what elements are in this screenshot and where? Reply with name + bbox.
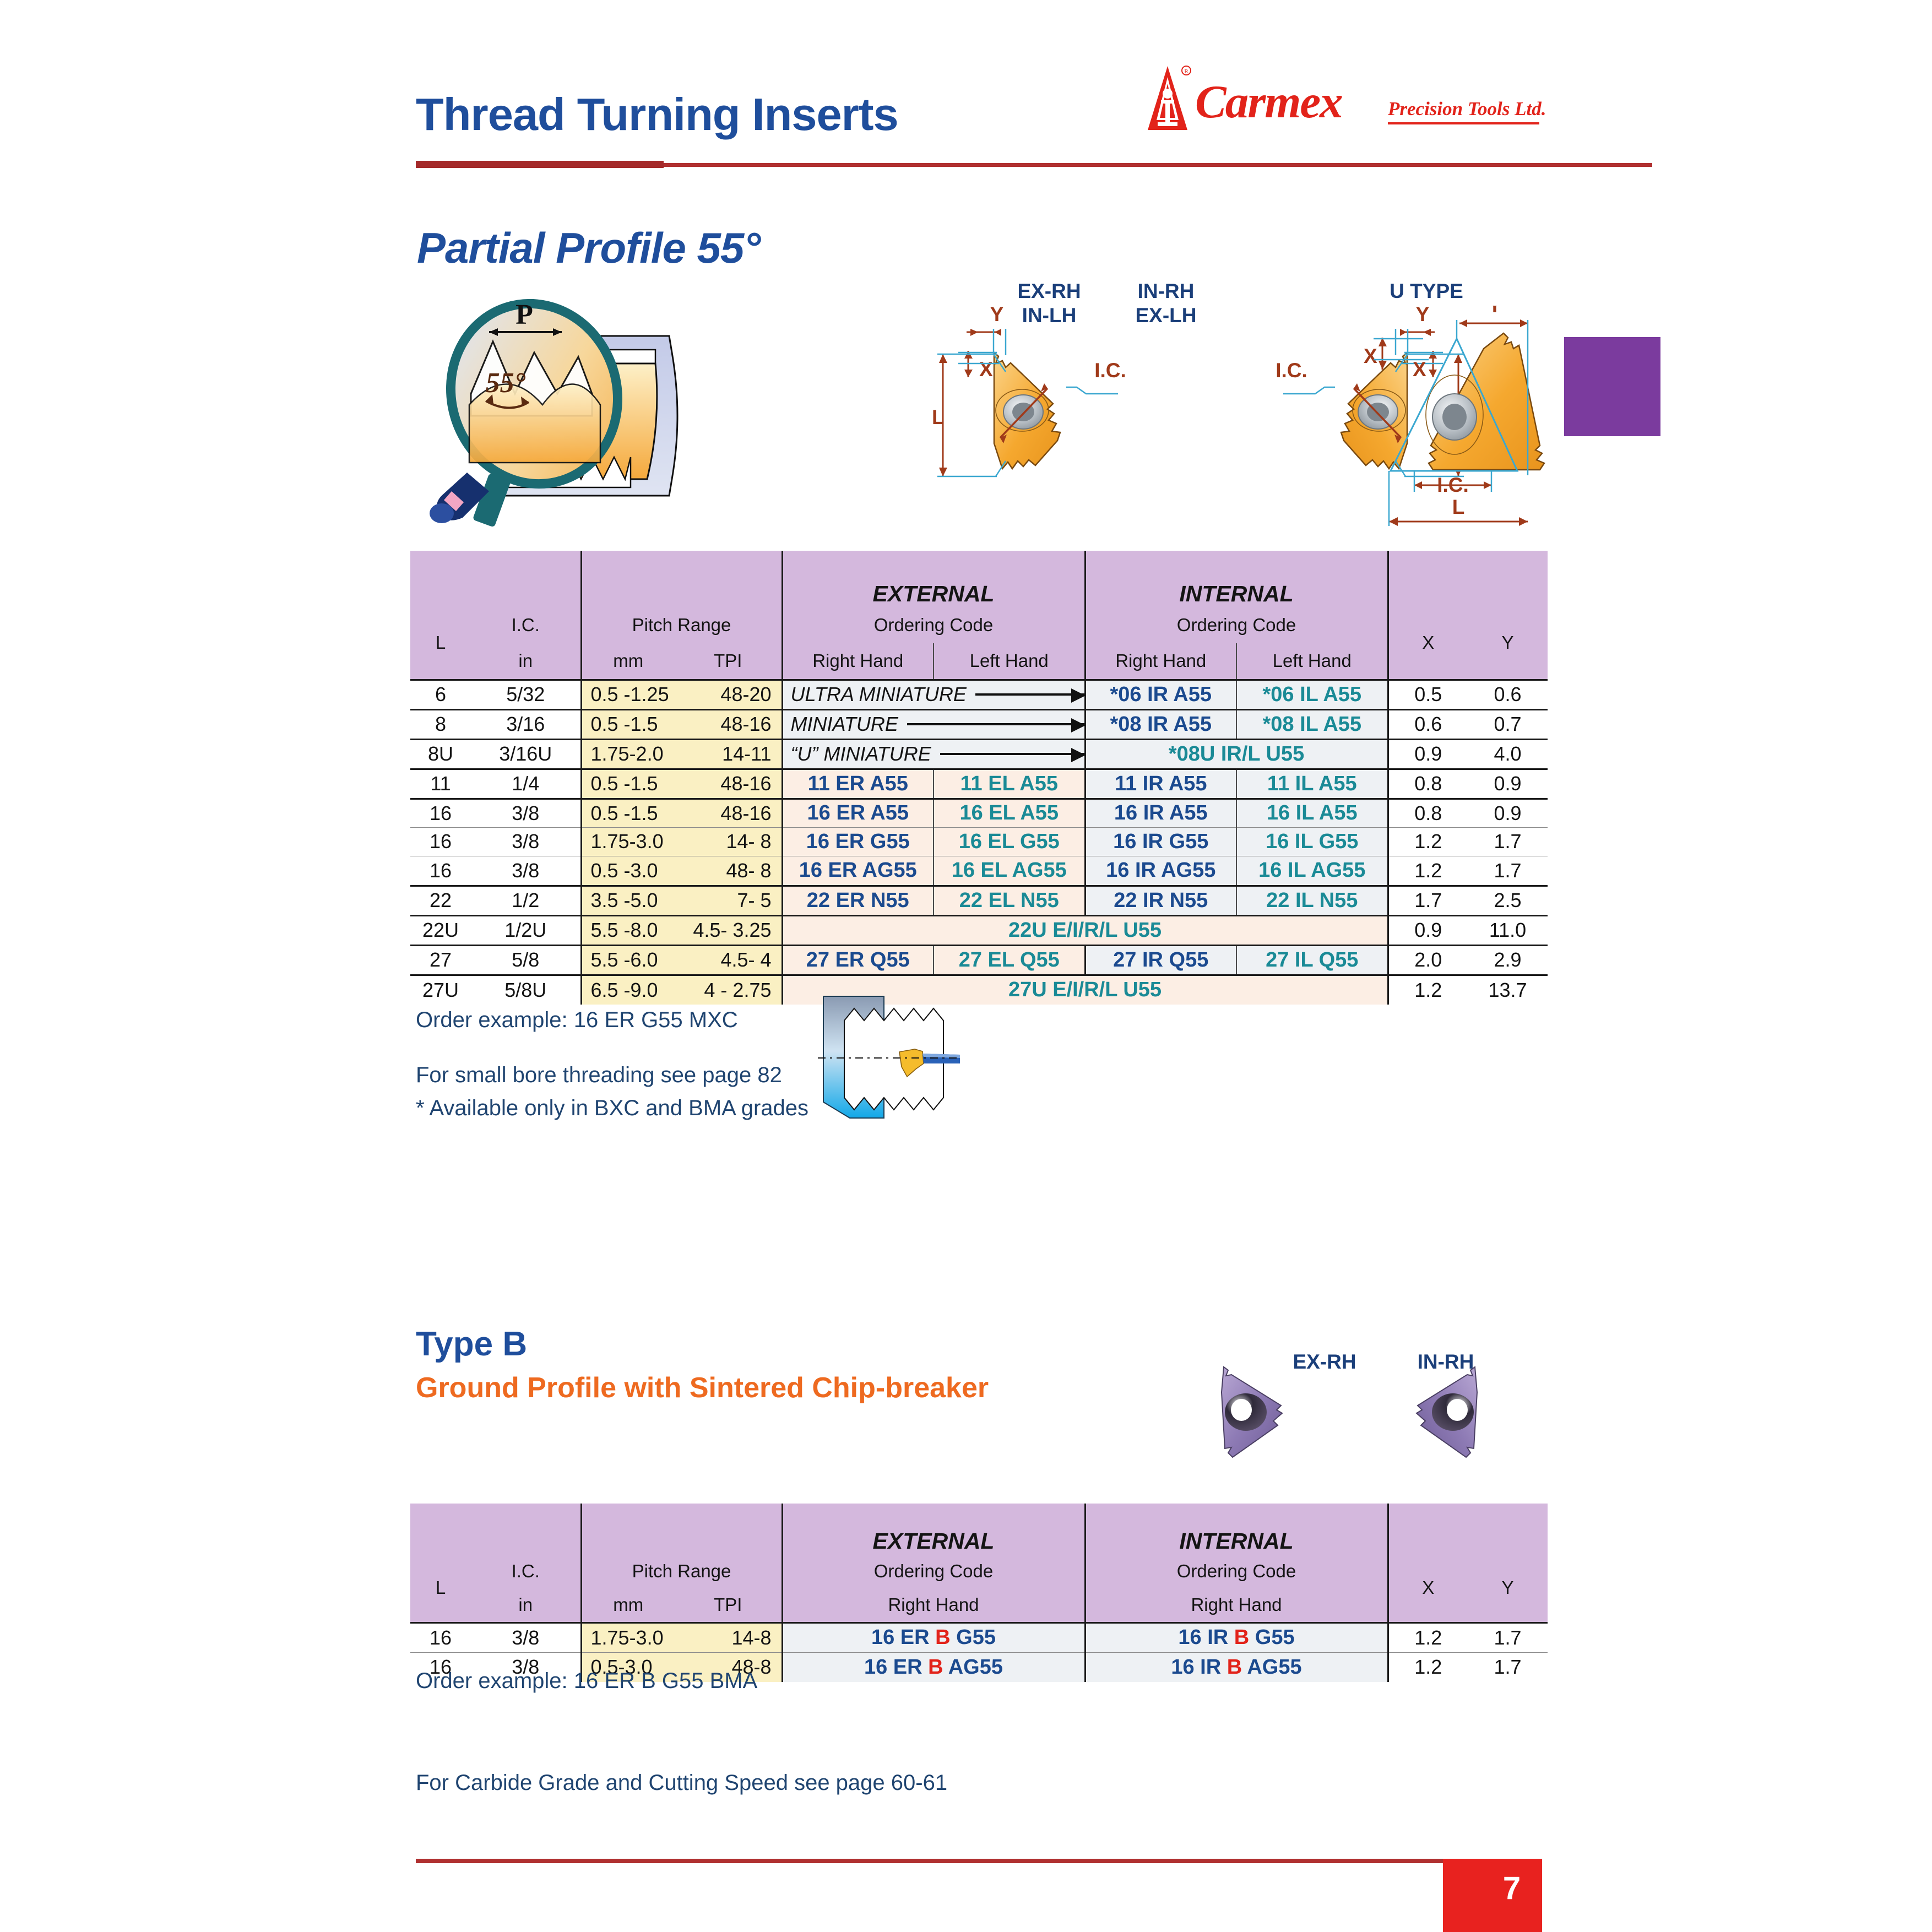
header-int-left-hand: Left Hand bbox=[1236, 643, 1388, 680]
header-l: L bbox=[410, 607, 471, 680]
carbide-grade-note: For Carbide Grade and Cutting Speed see … bbox=[416, 1771, 947, 1795]
diagram-label-ex-rh: EX-RH bbox=[997, 280, 1101, 303]
svg-text:L: L bbox=[932, 406, 945, 428]
order-example-type-b: Order example: 16 ER B G55 BMA bbox=[416, 1669, 757, 1694]
catalog-page: Thread Turning Inserts R Carmex Precisio… bbox=[0, 0, 1932, 1932]
header-rule-accent bbox=[416, 161, 664, 168]
header-ext-ordering-code: Ordering Code bbox=[782, 607, 1085, 643]
typeb-ext-code: 16 ER B AG55 bbox=[782, 1652, 1085, 1682]
insert-diagram-svg: Y X L I.C. bbox=[925, 306, 1548, 540]
typeb-header-int-rh: Right Hand bbox=[1085, 1588, 1388, 1622]
type-b-insert-photos: EX-RH IN-RH bbox=[1212, 1355, 1498, 1476]
header-external: EXTERNAL bbox=[782, 551, 1085, 607]
typeb-header-pitch-range: Pitch Range bbox=[581, 1554, 782, 1588]
svg-text:Y: Y bbox=[990, 306, 1004, 325]
diagram-label-u-type: U TYPE bbox=[1366, 280, 1487, 303]
header-int-ordering-code: Ordering Code bbox=[1085, 607, 1388, 643]
typeb-header-external: EXTERNAL bbox=[782, 1504, 1085, 1554]
svg-text:R: R bbox=[1184, 68, 1188, 75]
table-row: 16 3/8 1.75-3.014- 8 16 ER G55 16 EL G55… bbox=[410, 827, 1548, 856]
svg-text:X: X bbox=[1413, 358, 1426, 381]
type-b-table: EXTERNAL INTERNAL L I.C. Pitch Range Ord… bbox=[410, 1504, 1548, 1682]
svg-text:I.C.: I.C. bbox=[1094, 359, 1126, 382]
header-pitch-mm: mm bbox=[581, 643, 675, 680]
header-ic-unit: in bbox=[471, 643, 581, 680]
page-header: Thread Turning Inserts R Carmex Precisio… bbox=[0, 0, 1932, 182]
svg-text:Y: Y bbox=[1416, 306, 1430, 325]
partial-profile-table: EXTERNAL INTERNAL L I.C. Pitch Range Ord… bbox=[410, 551, 1548, 1005]
pitch-label: P bbox=[515, 299, 533, 330]
svg-text:I.C.: I.C. bbox=[1437, 474, 1469, 496]
table-row: 16 3/8 0.5 -3.048- 8 16 ER AG55 16 EL AG… bbox=[410, 856, 1548, 886]
typeb-header-ic-unit: in bbox=[471, 1588, 581, 1622]
typeb-int-code: 16 IR B G55 bbox=[1085, 1622, 1388, 1652]
page-title: Thread Turning Inserts bbox=[416, 88, 898, 141]
typeb-header-l: L bbox=[410, 1554, 471, 1622]
color-swatch bbox=[1564, 337, 1660, 436]
brand-name: Carmex bbox=[1195, 75, 1342, 129]
small-bore-note: For small bore threading see page 82 bbox=[416, 1063, 782, 1088]
header-ext-left-hand: Left Hand bbox=[934, 643, 1085, 680]
footer-rule bbox=[416, 1859, 1443, 1863]
type-b-heading: Type B bbox=[416, 1325, 527, 1364]
typeb-header-x: X bbox=[1388, 1554, 1468, 1622]
thread-profile-illustration: P 55° bbox=[397, 297, 738, 534]
typeb-header-ext-rh: Right Hand bbox=[782, 1588, 1085, 1622]
typeb-header-ext-code: Ordering Code bbox=[782, 1554, 1085, 1588]
typeb-int-code: 16 IR B AG55 bbox=[1085, 1652, 1388, 1682]
table-row: 6 5/32 0.5 -1.2548-20 ULTRA MINIATURE *0… bbox=[410, 680, 1548, 709]
header-pitch-tpi: TPI bbox=[675, 643, 782, 680]
note-u-miniature: “U” MINIATURE bbox=[782, 739, 1085, 769]
angle-label: 55° bbox=[486, 367, 526, 399]
header-int-right-hand: Right Hand bbox=[1085, 643, 1236, 680]
note-miniature: MINIATURE bbox=[782, 709, 1085, 739]
brand-tagline: Precision Tools Ltd. bbox=[1388, 98, 1546, 120]
svg-text:L: L bbox=[1452, 496, 1465, 518]
brand-logo: R Carmex Precision Tools Ltd. bbox=[1135, 72, 1542, 143]
bore-threading-illustration bbox=[818, 994, 961, 1121]
svg-text:Y: Y bbox=[1488, 306, 1502, 317]
table-row: 22U 1/2U 5.5 -8.04.5- 3.25 22U E/I/R/L U… bbox=[410, 915, 1548, 945]
diagram-label-in-rh: IN-RH bbox=[1114, 280, 1218, 303]
table-row: 11 1/4 0.5 -1.548-16 11 ER A55 11 EL A55… bbox=[410, 769, 1548, 799]
svg-text:I.C.: I.C. bbox=[1276, 359, 1307, 382]
table-row: 27 5/8 5.5 -6.04.5- 4 27 ER Q55 27 EL Q5… bbox=[410, 945, 1548, 975]
typeb-header-int-code: Ordering Code bbox=[1085, 1554, 1388, 1588]
svg-text:X: X bbox=[979, 358, 993, 381]
section-title: Partial Profile 55° bbox=[417, 223, 760, 273]
typeb-header-pitch-mm: mm bbox=[581, 1588, 675, 1622]
table-row: 27U 5/8U 6.5 -9.04 - 2.75 27U E/I/R/L U5… bbox=[410, 975, 1548, 1005]
type-b-subheading: Ground Profile with Sintered Chip-breake… bbox=[416, 1371, 989, 1404]
header-pitch-range: Pitch Range bbox=[581, 607, 782, 643]
order-example-main: Order example: 16 ER G55 MXC bbox=[416, 1008, 738, 1033]
insert-geometry-diagrams: EX-RH IN-LH IN-RH EX-LH U TYPE bbox=[925, 275, 1548, 540]
brand-tagline-rule bbox=[1388, 122, 1539, 124]
header-x: X bbox=[1388, 607, 1468, 680]
typeb-header-pitch-tpi: TPI bbox=[675, 1588, 782, 1622]
table-row: 16 3/8 0.5 -1.548-16 16 ER A55 16 EL A55… bbox=[410, 799, 1548, 827]
header-y: Y bbox=[1468, 607, 1548, 680]
header-ext-right-hand: Right Hand bbox=[782, 643, 934, 680]
typeb-header-ic: I.C. bbox=[471, 1554, 581, 1588]
svg-text:X: X bbox=[1364, 345, 1377, 367]
page-number: 7 bbox=[1487, 1870, 1537, 1907]
typeb-ext-code: 16 ER B G55 bbox=[782, 1622, 1085, 1652]
typeb-header-y: Y bbox=[1468, 1554, 1548, 1622]
typeb-header-internal: INTERNAL bbox=[1085, 1504, 1388, 1554]
header-internal: INTERNAL bbox=[1085, 551, 1388, 607]
all-span-code: 22U E/I/R/L U55 bbox=[782, 915, 1388, 945]
header-ic: I.C. bbox=[471, 607, 581, 643]
asterisk-note: * Available only in BXC and BMA grades bbox=[416, 1096, 808, 1121]
table-row: 22 1/2 3.5 -5.07- 5 22 ER N55 22 EL N55 … bbox=[410, 886, 1548, 915]
carmex-logo-icon: R bbox=[1135, 65, 1201, 137]
int-span-code: *08U IR/L U55 bbox=[1085, 739, 1388, 769]
table-row: 16 3/8 1.75-3.014-8 16 ER B G55 16 IR B … bbox=[410, 1622, 1548, 1652]
note-ultra-miniature: ULTRA MINIATURE bbox=[782, 680, 1085, 709]
table-row: 8 3/16 0.5 -1.548-16 MINIATURE *08 IR A5… bbox=[410, 709, 1548, 739]
table-row: 8U 3/16U 1.75-2.014-11 “U” MINIATURE *08… bbox=[410, 739, 1548, 769]
type-b-insert-svg bbox=[1212, 1359, 1498, 1475]
